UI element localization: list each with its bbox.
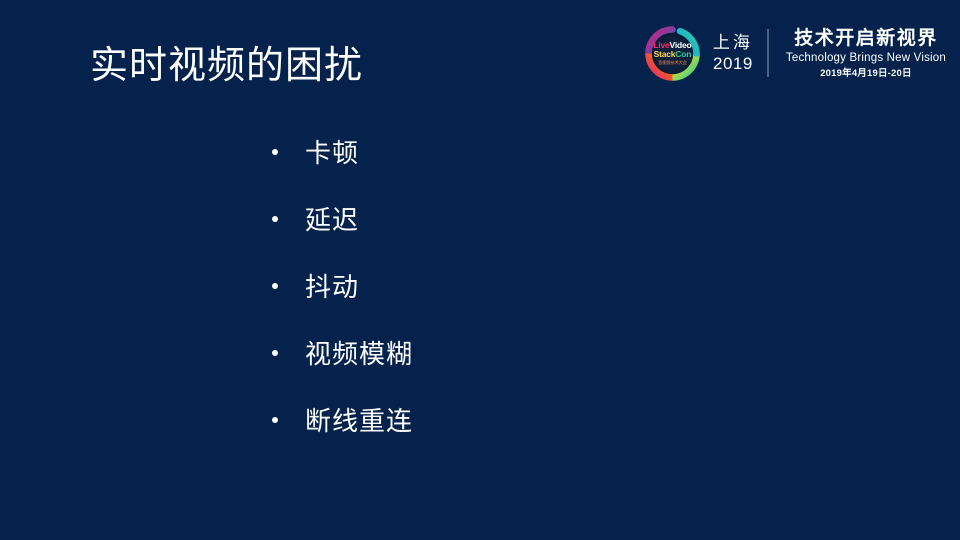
event-slogan-block: 技术开启新视界 Technology Brings New Vision 201…: [786, 27, 946, 80]
slide-title: 实时视频的困扰: [90, 43, 363, 91]
slogan-english: Technology Brings New Vision: [786, 51, 946, 66]
bullet-dot-icon: [272, 216, 278, 222]
bullet-list: 卡顿 延迟 抖动 视频模糊 断线重连: [272, 118, 692, 453]
event-branding-header: LiveVideo StackCon 音视频技术大会 上海 2019 技术开启新…: [644, 22, 946, 84]
brand-divider: [767, 29, 769, 77]
list-item: 抖动: [272, 252, 692, 319]
list-item: 断线重连: [272, 386, 692, 453]
bullet-dot-icon: [272, 283, 278, 289]
list-item: 延迟: [272, 185, 692, 252]
event-city: 上海: [713, 32, 753, 53]
bullet-label: 卡顿: [305, 133, 359, 170]
event-year: 2019: [713, 53, 753, 74]
presentation-slide: 实时视频的困扰 卡顿 延迟 抖动 视频模糊 断线重连: [0, 0, 960, 540]
slogan-chinese: 技术开启新视界: [786, 27, 946, 51]
list-item: 视频模糊: [272, 319, 692, 386]
bullet-label: 视频模糊: [305, 334, 413, 371]
livevideostackcon-logo-icon: LiveVideo StackCon 音视频技术大会: [644, 25, 701, 82]
bullet-dot-icon: [272, 149, 278, 155]
bullet-label: 断线重连: [305, 401, 413, 438]
list-item: 卡顿: [272, 118, 692, 185]
event-city-year: 上海 2019: [713, 32, 753, 74]
bullet-label: 抖动: [305, 267, 359, 304]
event-date: 2019年4月19日-20日: [786, 67, 946, 80]
bullet-dot-icon: [272, 350, 278, 356]
bullet-dot-icon: [272, 417, 278, 423]
bullet-label: 延迟: [305, 200, 359, 237]
